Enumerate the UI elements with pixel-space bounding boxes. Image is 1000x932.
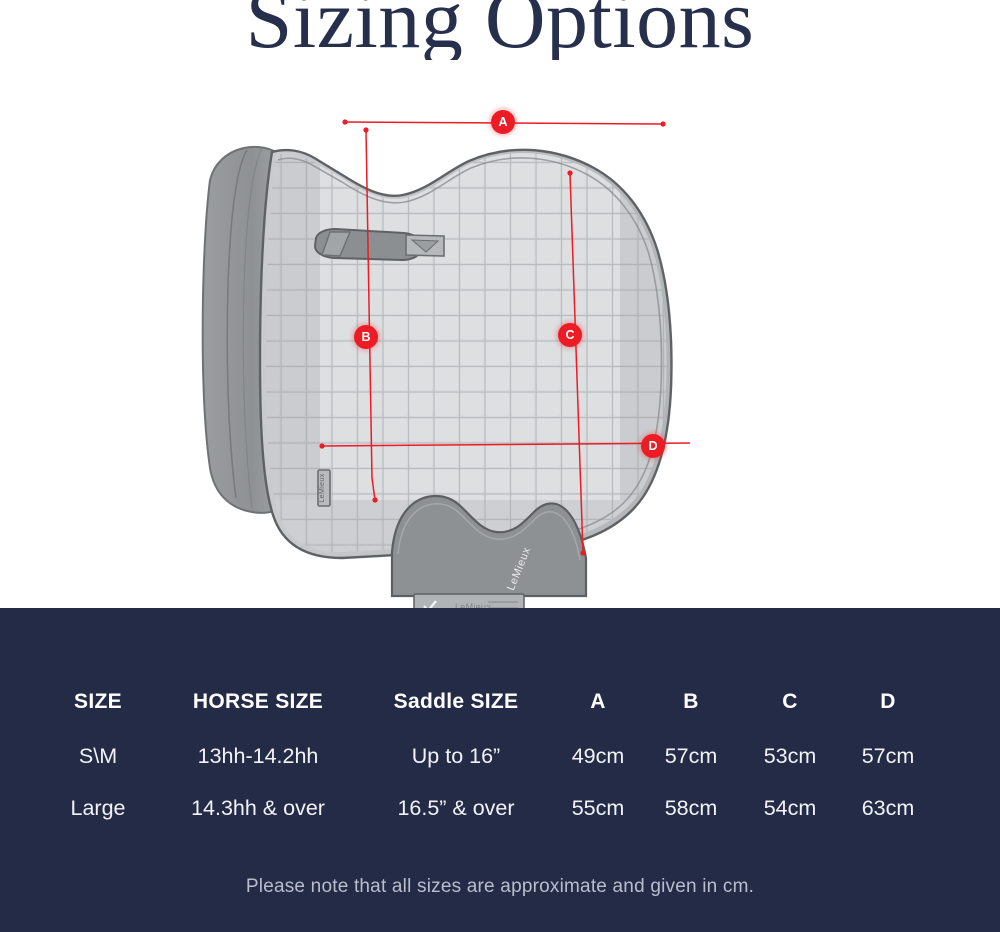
cell-saddle-size: 16.5” & over — [358, 782, 554, 834]
cell-a: 49cm — [554, 730, 642, 782]
header-b: B — [646, 676, 736, 728]
cell-horse-size: 13hh-14.2hh — [158, 730, 358, 782]
pad-front-tab — [406, 235, 444, 256]
header-a: A — [554, 676, 642, 728]
header-c: C — [744, 676, 836, 728]
cell-c: 53cm — [744, 730, 836, 782]
svg-text:LeMieux: LeMieux — [319, 473, 326, 502]
cell-a: 55cm — [554, 782, 642, 834]
cell-horse-size: 14.3hh & over — [158, 782, 358, 834]
pad-side-label-tag: LeMieux — [318, 470, 330, 506]
cell-d: 57cm — [842, 730, 934, 782]
sizing-footnote: Please note that all sizes are approxima… — [0, 876, 1000, 898]
header-horse-size: HORSE SIZE — [158, 676, 358, 728]
cell-size: Large — [38, 782, 158, 834]
page-title: Sizing Options — [0, 0, 1000, 62]
cell-d: 63cm — [842, 782, 934, 834]
header-size: SIZE — [38, 676, 158, 728]
cell-b: 58cm — [646, 782, 736, 834]
sizing-options-page: Sizing Options — [0, 0, 1000, 932]
saddle-pad-illustration: LeMieux LeMieux LeMieux — [0, 60, 1000, 608]
header-d: D — [842, 676, 934, 728]
size-table-panel: SIZE HORSE SIZE Saddle SIZE A B C D S\M … — [0, 608, 1000, 932]
measurement-marker-c: C — [558, 323, 582, 347]
page-title-container: Sizing Options — [0, 0, 1000, 62]
table-header-row: SIZE HORSE SIZE Saddle SIZE A B C D — [0, 676, 1000, 728]
measurement-marker-a: A — [491, 110, 515, 134]
measurement-marker-d: D — [641, 434, 665, 458]
measurement-marker-b: B — [354, 325, 378, 349]
cell-saddle-size: Up to 16” — [358, 730, 554, 782]
cell-size: S\M — [38, 730, 158, 782]
header-saddle-size: Saddle SIZE — [358, 676, 554, 728]
table-row: S\M 13hh-14.2hh Up to 16” 49cm 57cm 53cm… — [0, 730, 1000, 782]
table-row: Large 14.3hh & over 16.5” & over 55cm 58… — [0, 782, 1000, 834]
cell-b: 57cm — [646, 730, 736, 782]
cell-c: 54cm — [744, 782, 836, 834]
